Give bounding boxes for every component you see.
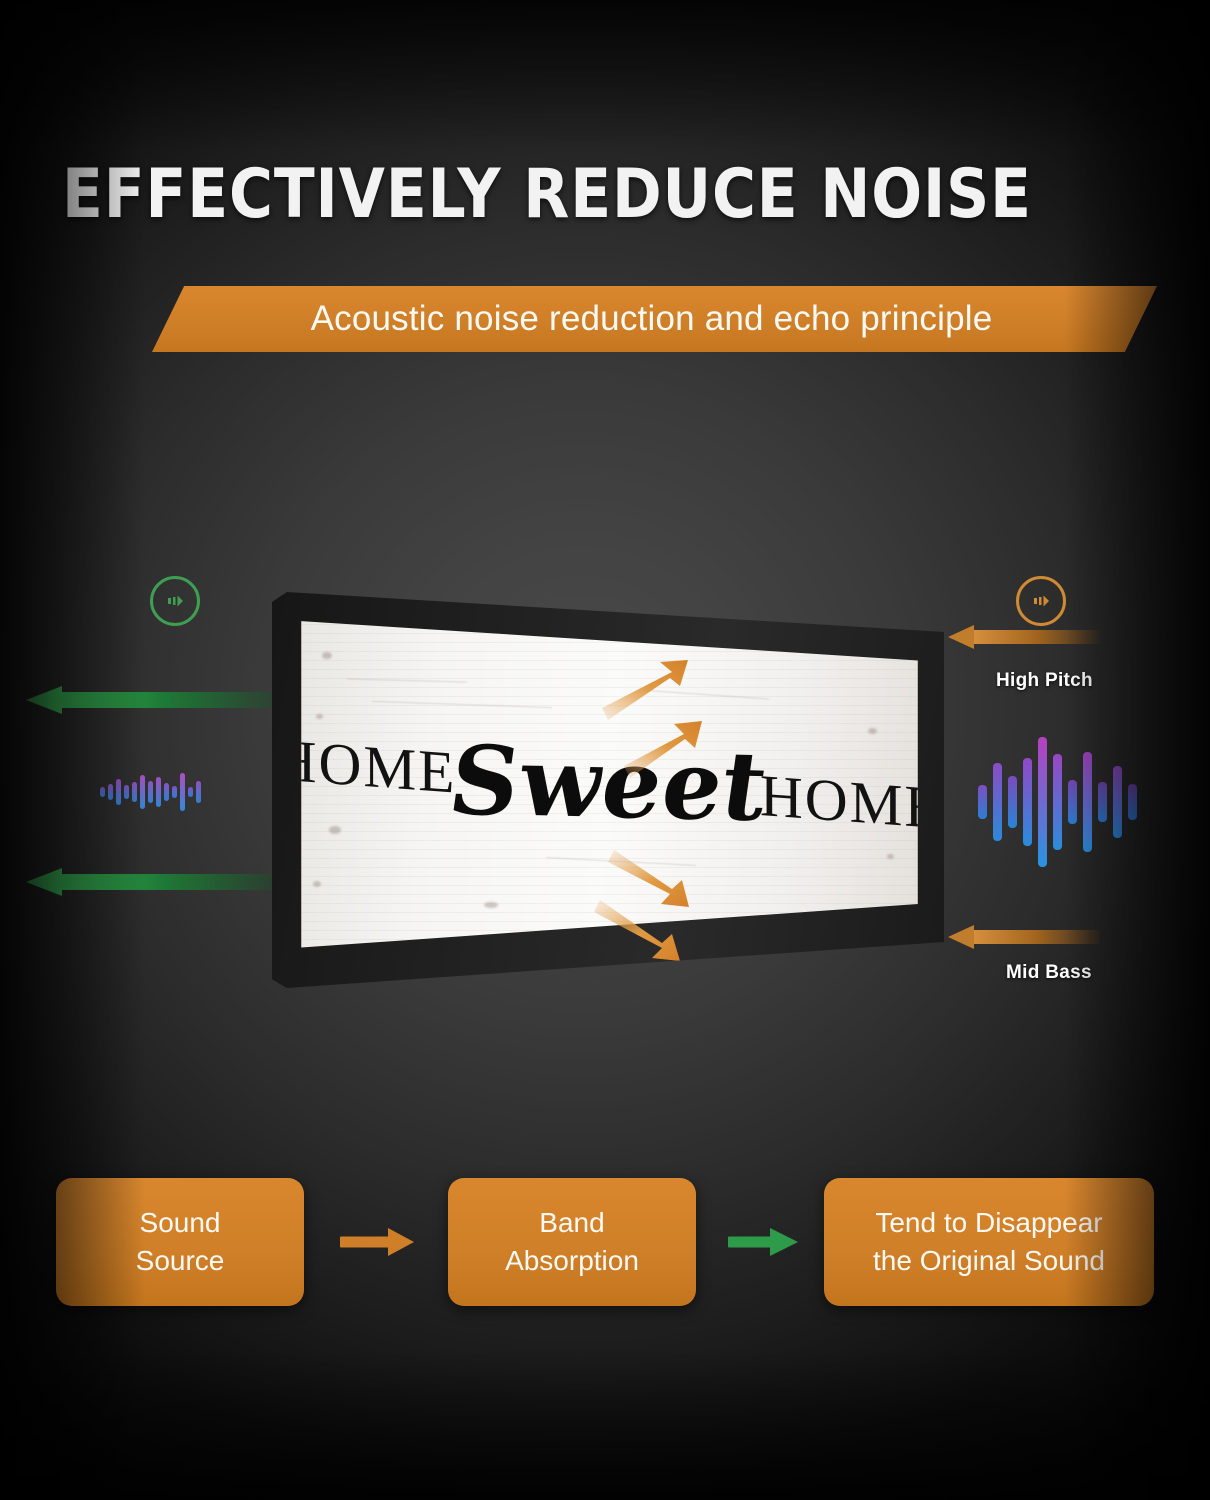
arrow-left-lower	[26, 874, 286, 890]
flow-step-3-line-1: Tend to Disappear	[873, 1204, 1105, 1242]
label-high-pitch: High Pitch	[996, 670, 1093, 692]
flow-step-band-absorption[interactable]: Band Absorption	[448, 1178, 696, 1306]
sign-arrow-up-2	[624, 721, 702, 778]
sign-arrow-down-2	[594, 900, 680, 961]
label-mid-bass: Mid Bass	[1006, 962, 1092, 984]
speaker-icon-left	[150, 576, 200, 626]
flow-step-1-line-2: Source	[136, 1242, 225, 1280]
subtitle-banner-label: Acoustic noise reduction and echo princi…	[152, 286, 1157, 352]
arrow-left-upper	[26, 692, 286, 708]
waveform-right	[978, 722, 1137, 882]
subtitle-banner: Acoustic noise reduction and echo princi…	[152, 286, 1157, 352]
flow-step-disappear-text: Tend to Disappear the Original Sound	[873, 1204, 1105, 1280]
flow-step-band-absorption-text: Band Absorption	[505, 1204, 639, 1280]
flow-step-sound-source[interactable]: Sound Source	[56, 1178, 304, 1306]
sign-arrow-down-1	[608, 850, 689, 907]
sign-reflection-arrows	[272, 588, 944, 988]
flow-step-2-line-1: Band	[505, 1204, 639, 1242]
waveform-left	[100, 770, 204, 814]
speaker-glyph-orange	[1029, 589, 1053, 613]
speaker-icon-right	[1016, 576, 1066, 626]
speaker-glyph-green	[163, 589, 187, 613]
product-sign: HOME Sweet HOME	[272, 588, 944, 988]
arrow-right-high-pitch	[948, 630, 1100, 644]
flow-step-disappear[interactable]: Tend to Disappear the Original Sound	[824, 1178, 1154, 1306]
flow-step-2-line-2: Absorption	[505, 1242, 639, 1280]
page-title: EFFECTIVELY REDUCE NOISE	[62, 158, 854, 232]
sign-arrow-up-1	[602, 660, 688, 720]
flow-step-3-line-2: the Original Sound	[873, 1242, 1105, 1280]
flow-step-1-line-1: Sound	[136, 1204, 225, 1242]
infographic-root: EFFECTIVELY REDUCE NOISE Acoustic noise …	[0, 0, 1210, 1500]
arrow-right-mid-bass	[948, 930, 1100, 944]
flow-step-sound-source-text: Sound Source	[136, 1204, 225, 1280]
